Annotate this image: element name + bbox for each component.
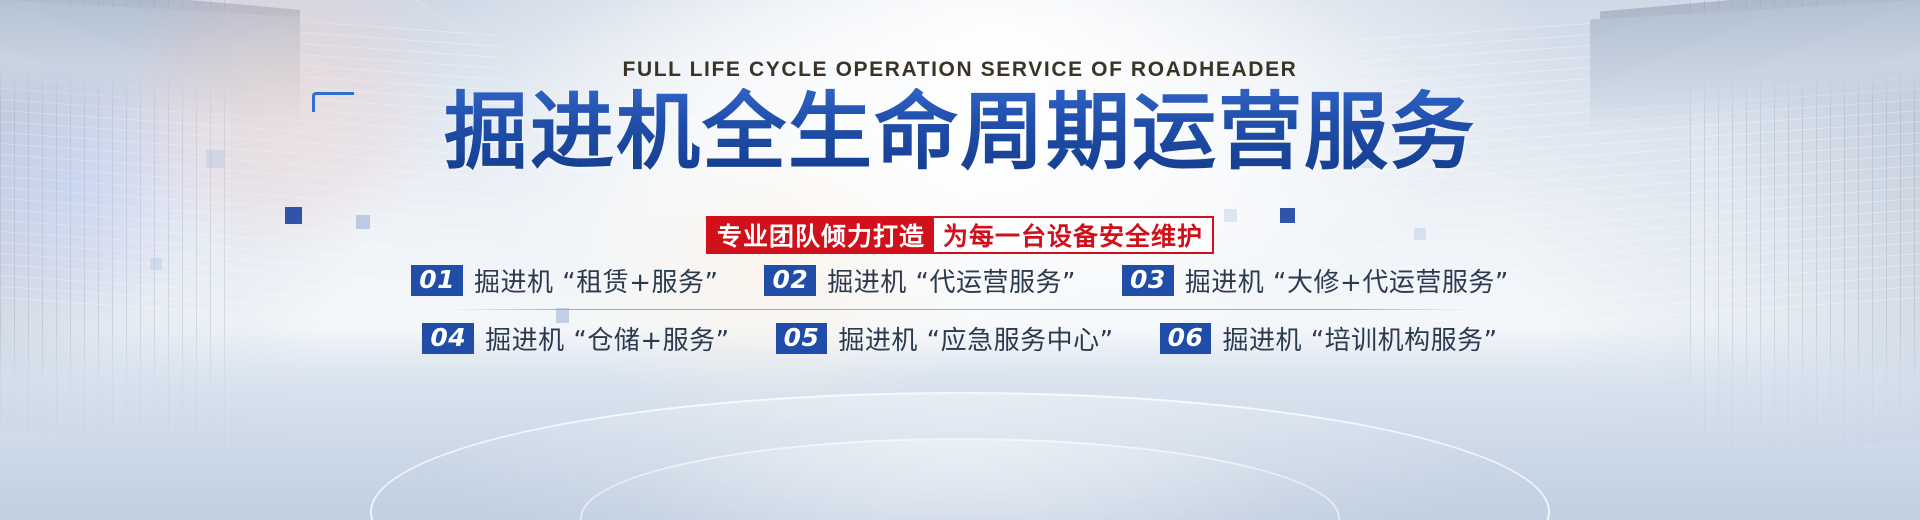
service-label: 掘进机 “租赁+服务” bbox=[474, 262, 719, 299]
service-label: 掘进机 “仓储+服务” bbox=[485, 320, 730, 357]
service-item-03[interactable]: 03 掘进机 “大修+代运营服务” bbox=[1122, 262, 1509, 299]
service-number-badge: 04 bbox=[422, 323, 474, 354]
service-row-2: 04 掘进机 “仓储+服务” 05 掘进机 “应急服务中心” 06 掘进机 “培… bbox=[0, 310, 1920, 367]
service-item-06[interactable]: 06 掘进机 “培训机构服务” bbox=[1160, 320, 1498, 357]
service-label: 掘进机 “代运营服务” bbox=[827, 262, 1076, 299]
service-item-04[interactable]: 04 掘进机 “仓储+服务” bbox=[422, 320, 729, 357]
service-divider bbox=[450, 309, 1470, 310]
banner-content: FULL LIFE CYCLE OPERATION SERVICE OF ROA… bbox=[0, 0, 1920, 520]
slogan-badge: 专业团队倾力打造 为每一台设备安全维护 bbox=[706, 216, 1214, 254]
slogan-filled-text: 专业团队倾力打造 bbox=[708, 218, 934, 252]
service-number-badge: 05 bbox=[776, 323, 828, 354]
service-number-badge: 03 bbox=[1122, 265, 1174, 296]
english-subtitle: FULL LIFE CYCLE OPERATION SERVICE OF ROA… bbox=[0, 58, 1920, 82]
divider-tick-mark bbox=[556, 308, 569, 323]
slogan-outlined-text: 为每一台设备安全维护 bbox=[934, 218, 1212, 252]
service-list: 01 掘进机 “租赁+服务” 02 掘进机 “代运营服务” 03 掘进机 “大修… bbox=[0, 252, 1920, 367]
service-label: 掘进机 “应急服务中心” bbox=[838, 320, 1113, 357]
service-label: 掘进机 “培训机构服务” bbox=[1222, 320, 1497, 357]
page-title: 掘进机全生命周期运营服务 bbox=[0, 88, 1920, 176]
service-number-badge: 06 bbox=[1160, 323, 1212, 354]
service-label: 掘进机 “大修+代运营服务” bbox=[1185, 262, 1509, 299]
service-row-1: 01 掘进机 “租赁+服务” 02 掘进机 “代运营服务” 03 掘进机 “大修… bbox=[0, 252, 1920, 309]
service-item-05[interactable]: 05 掘进机 “应急服务中心” bbox=[776, 320, 1114, 357]
service-item-01[interactable]: 01 掘进机 “租赁+服务” bbox=[411, 262, 718, 299]
promo-banner: FULL LIFE CYCLE OPERATION SERVICE OF ROA… bbox=[0, 0, 1920, 520]
service-item-02[interactable]: 02 掘进机 “代运营服务” bbox=[764, 262, 1076, 299]
service-number-badge: 01 bbox=[411, 265, 463, 296]
service-number-badge: 02 bbox=[764, 265, 816, 296]
